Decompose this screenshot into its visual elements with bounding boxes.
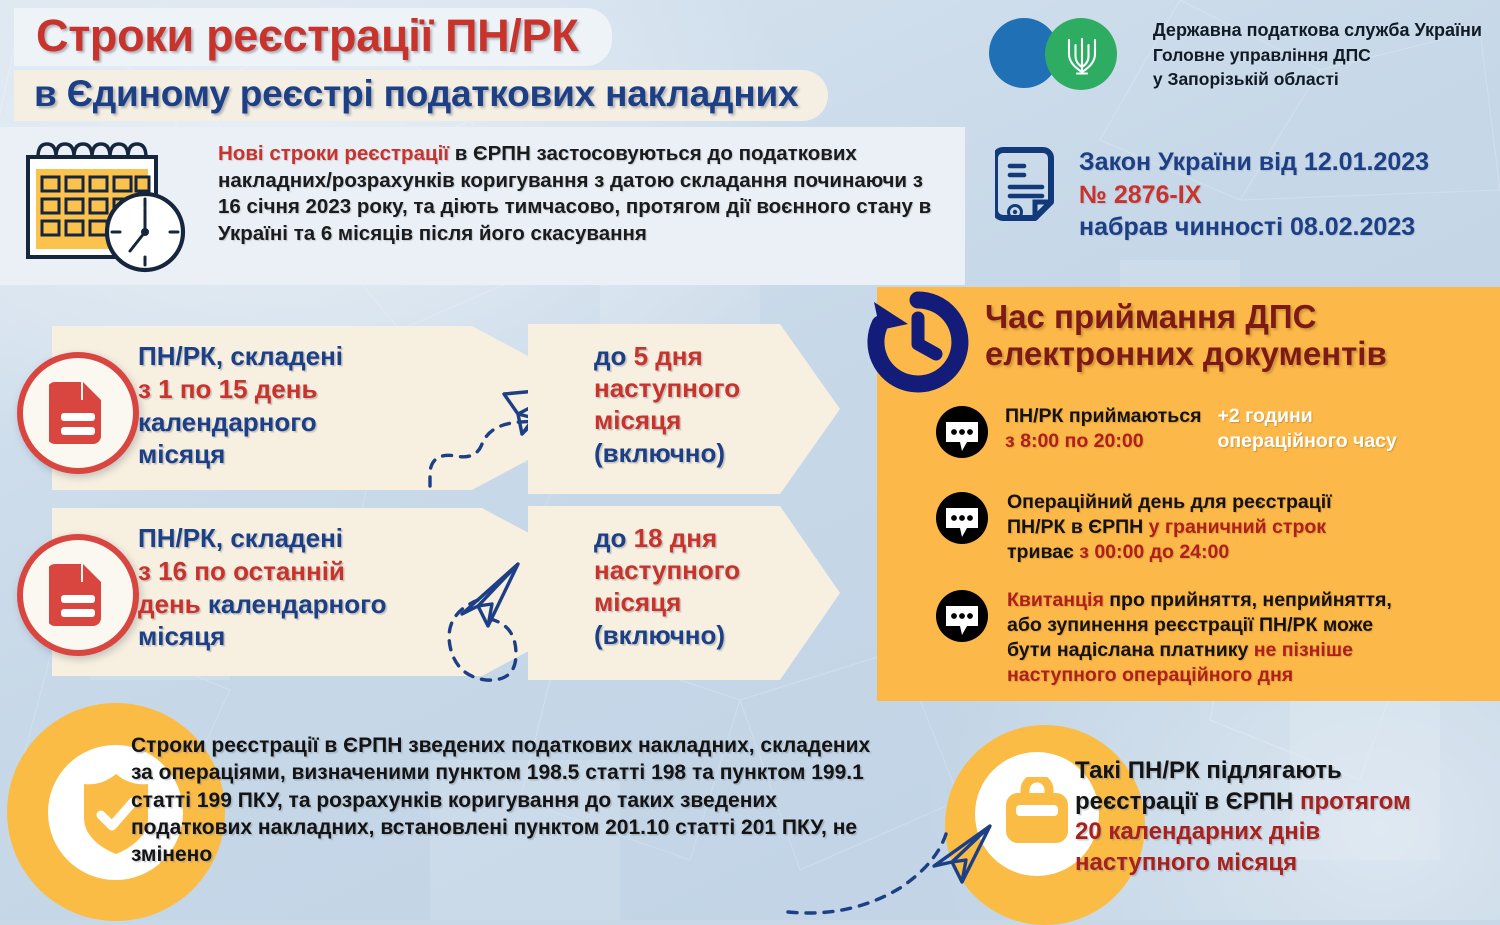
rule-2-r2: наступного [594, 554, 834, 586]
dps-hours-note-l2: операційного часу [1217, 429, 1396, 454]
dps-hours-item-1-text: ПН/РК приймаються з 8:00 по 20:00 [1005, 404, 1201, 454]
rule-2-l3-plain: календарного [208, 589, 387, 619]
brand-block: Державна податкова служба України Головн… [989, 16, 1482, 92]
dps-hours-note-l1: +2 години [1217, 404, 1396, 429]
dps-hours-item-2-text: Операційний день для реєстрації ПН/РК в … [1007, 490, 1332, 565]
summary-right-l3: 20 календарних днів [1075, 817, 1495, 848]
speech-bubble-icon [935, 492, 989, 550]
dps-hours-item-3-text: Квитанція про прийняття, неприйняття, аб… [1007, 588, 1392, 688]
rule-2-r1-value: 18 дня [634, 523, 718, 553]
rule-1-r3: місяця [594, 404, 834, 436]
summary-right-text: Такі ПН/РК підлягають реєстрації в ЄРПН … [1075, 756, 1495, 879]
rule-1-r1-value: 5 дня [634, 341, 703, 371]
brand-line-2: Головне управління ДПС [1153, 44, 1482, 68]
summary-right-l1: Такі ПН/РК підлягають [1075, 756, 1495, 787]
paper-plane-icon-2 [452, 562, 526, 632]
dps-hours-item-3-l1: Квитанція про прийняття, неприйняття, [1007, 588, 1392, 613]
dps-hours-item-3: Квитанція про прийняття, неприйняття, аб… [935, 588, 1392, 688]
summary-right-l4: наступного місяця [1075, 848, 1495, 879]
dps-hours-item-2: Операційний день для реєстрації ПН/РК в … [935, 490, 1332, 565]
dps-hours-item-2-l2: ПН/РК в ЄРПН у граничний строк [1007, 515, 1332, 540]
dps-hours-item-3-l3: бути надіслана платнику не пізніше [1007, 638, 1392, 663]
dps-hours-heading-line1: Час приймання ДПС [985, 298, 1495, 335]
rule-2-l3-hl: день [138, 589, 208, 619]
rule-1-r4: (включно) [594, 437, 834, 469]
dps-hours-item-3-l4: наступного операційного дня [1007, 663, 1392, 688]
speech-bubble-icon [935, 406, 989, 464]
law-text: Закон України від 12.01.2023 № 2876-IX н… [1079, 146, 1429, 244]
rule-2-right-text: до 18 дня наступного місяця (включно) [594, 522, 834, 651]
rule-2-r1: до 18 дня [594, 522, 834, 554]
law-block: Закон України від 12.01.2023 № 2876-IX н… [995, 146, 1429, 244]
rule-2-r1-prefix: до [594, 523, 634, 553]
rule-2-r3: місяця [594, 586, 834, 618]
infographic-canvas: Строки реєстрації ПН/РК в Єдиному реєстр… [0, 0, 1500, 920]
rule-1-r1-prefix: до [594, 341, 634, 371]
law-line-2: № 2876-IX [1079, 179, 1429, 212]
law-line-3: набрав чинності 08.02.2023 [1079, 211, 1429, 244]
dps-hours-item-1-note: +2 години операційного часу [1217, 404, 1396, 454]
dps-hours-heading: Час приймання ДПС електронних документів [985, 298, 1495, 373]
intro-text: Нові строки реєстрації в ЄРПН застосовую… [218, 141, 948, 248]
rule-2-badge [17, 534, 139, 656]
page-header: Строки реєстрації ПН/РК в Єдиному реєстр… [0, 0, 1500, 125]
dps-hours-item-1-l1: ПН/РК приймаються [1005, 404, 1201, 429]
page-title: Строки реєстрації ПН/РК в Єдиному реєстр… [14, 8, 828, 121]
brand-line-1: Державна податкова служба України [1153, 18, 1482, 42]
rule-2-l1: ПН/РК, складені [138, 522, 558, 555]
summary-right-l2-hl: протягом [1300, 788, 1411, 815]
briefcase-icon [998, 777, 1076, 851]
dps-hours-item-3-l1-hl: Квитанція [1007, 589, 1104, 611]
law-line-1: Закон України від 12.01.2023 [1079, 146, 1429, 179]
dps-hours-item-3-l1-plain: про прийняття, неприйняття, [1104, 589, 1392, 611]
brand-text: Державна податкова служба України Головн… [1153, 16, 1482, 92]
rule-1-right-text: до 5 дня наступного місяця (включно) [594, 340, 834, 469]
dps-hours-item-3-l3-plain: бути надіслана платнику [1007, 639, 1254, 661]
document-icon [49, 380, 107, 446]
dashed-connector-3 [780, 826, 960, 918]
dps-hours-item-2-l3-plain: триває [1007, 541, 1079, 563]
rule-1-r1: до 5 дня [594, 340, 834, 372]
calendar-clock-icon [12, 137, 207, 277]
rule-1-l1: ПН/РК, складені [138, 340, 538, 373]
document-icon [49, 562, 107, 628]
rule-2-r4: (включно) [594, 619, 834, 651]
dps-hours-item-1: ПН/РК приймаються з 8:00 по 20:00 +2 год… [935, 404, 1397, 464]
rule-1-badge [17, 352, 139, 474]
brand-logo [989, 16, 1139, 90]
rule-1-r2: наступного [594, 372, 834, 404]
page-title-line1: Строки реєстрації ПН/РК [14, 8, 612, 66]
page-title-line2: в Єдиному реєстрі податкових накладних [14, 70, 828, 121]
dps-hours-item-3-l2: або зупинення реєстрації ПН/РК може [1007, 613, 1392, 638]
brand-line-3: у Запорізькій області [1153, 68, 1482, 92]
tryzub-icon [1065, 34, 1099, 78]
dps-hours-item-2-l3-hl: з 00:00 до 24:00 [1079, 541, 1229, 563]
dps-hours-item-2-l2-plain: ПН/РК в ЄРПН [1007, 516, 1149, 538]
speech-bubble-icon [935, 590, 989, 648]
dps-hours-heading-line2: електронних документів [985, 335, 1495, 372]
summary-right-l2-plain: реєстрації в ЄРПН [1075, 788, 1300, 815]
summary-left-text: Строки реєстрації в ЄРПН зведених податк… [131, 732, 881, 868]
dps-hours-item-2-l2-hl: у граничний строк [1149, 516, 1326, 538]
dps-hours-item-1-l2: з 8:00 по 20:00 [1005, 429, 1201, 454]
dps-hours-item-3-l3-hl: не пізніше [1254, 639, 1353, 661]
document-seal-icon [995, 146, 1059, 230]
clock-icon [858, 288, 978, 396]
intro-highlight: Нові строки реєстрації [218, 142, 449, 165]
dps-hours-item-2-l3: триває з 00:00 до 24:00 [1007, 540, 1332, 565]
summary-right-l2: реєстрації в ЄРПН протягом [1075, 787, 1495, 818]
dps-hours-item-2-l1: Операційний день для реєстрації [1007, 490, 1332, 515]
